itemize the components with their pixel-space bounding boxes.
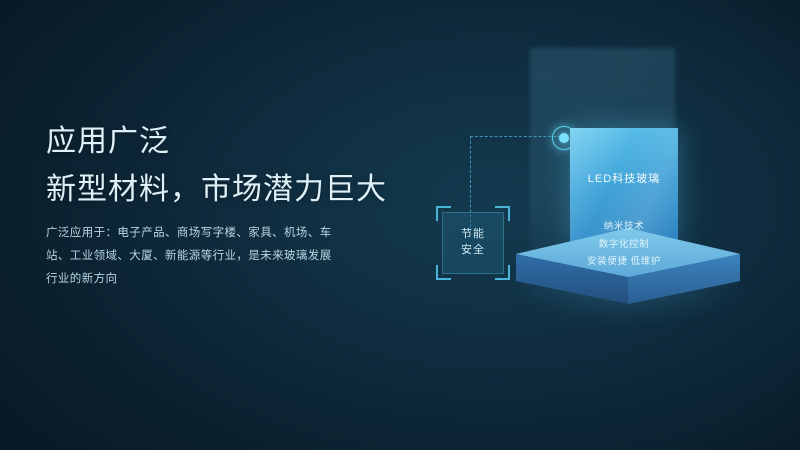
glow-node-core <box>559 133 569 143</box>
illustration-group: 节能 安全 LED科技玻璃 纳米技术 数字化控制 安装便捷 低维护 <box>420 30 800 430</box>
body-line-3: 行业的新方向 <box>46 268 376 291</box>
page-title: 应用广泛 新型材料，市场潜力巨大 <box>46 120 387 211</box>
body-line-1: 广泛应用于：电子产品、商场写字楼、家具、机场、车 <box>46 222 376 245</box>
feature-item-1: 纳米技术 <box>570 218 678 236</box>
body-line-2: 站、工业领域、大厦、新能源等行业，是未来玻璃发展 <box>46 245 376 268</box>
slide-canvas: 应用广泛 新型材料，市场潜力巨大 广泛应用于：电子产品、商场写字楼、家具、机场、… <box>0 0 800 450</box>
feature-item-3: 安装便捷 低维护 <box>570 253 678 271</box>
glass-panel-title: LED科技玻璃 <box>570 170 678 186</box>
headline-line-2: 新型材料，市场潜力巨大 <box>46 168 387 212</box>
feature-tag-content: 节能 安全 <box>442 212 504 274</box>
feature-tag-line-1: 节能 <box>461 227 485 243</box>
feature-list: 纳米技术 数字化控制 安装便捷 低维护 <box>570 218 678 271</box>
body-paragraph: 广泛应用于：电子产品、商场写字楼、家具、机场、车 站、工业领域、大厦、新能源等行… <box>46 222 376 291</box>
feature-item-2: 数字化控制 <box>570 236 678 254</box>
feature-tag-box: 节能 安全 <box>442 212 504 274</box>
headline-line-1: 应用广泛 <box>46 125 170 158</box>
feature-tag-line-2: 安全 <box>461 243 485 259</box>
